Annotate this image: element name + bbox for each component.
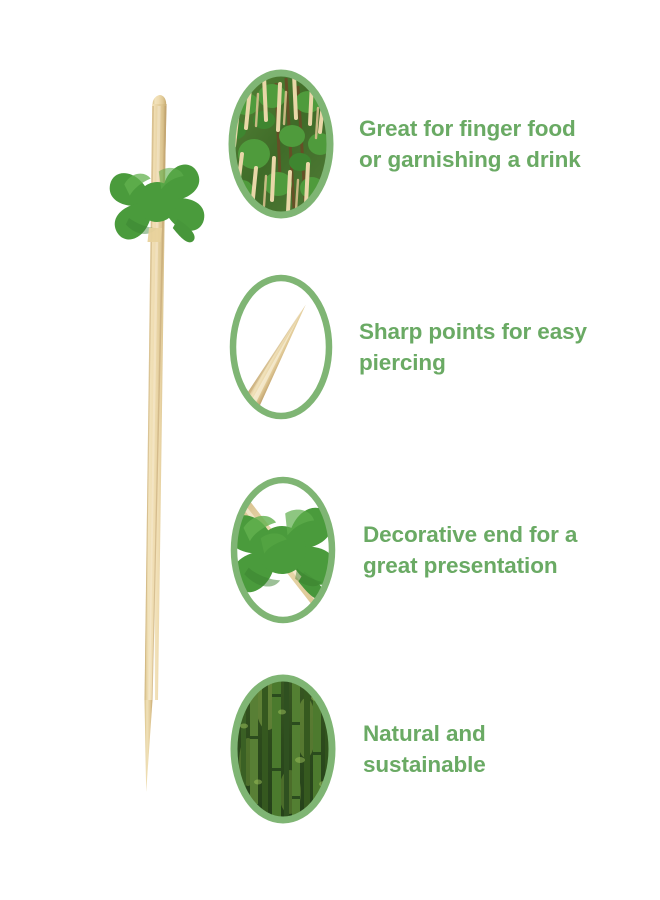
- product-feature-infographic: Great for finger food or garnishing a dr…: [0, 0, 660, 900]
- sharp-bamboo-point-photo: [220, 264, 342, 430]
- feature-label: Decorative end for a great presentation: [363, 519, 577, 581]
- feature-label: Sharp points for easy piercing: [359, 316, 587, 378]
- bamboo-forest-photo: [220, 664, 346, 834]
- feature-item-finger-food: Great for finger food or garnishing a dr…: [220, 58, 581, 230]
- hero-product-image: [0, 0, 215, 900]
- feature-item-natural-sustainable: Natural and sustainable: [220, 664, 486, 834]
- skewer-sharp-tip: [145, 700, 153, 792]
- feature-item-sharp-points: Sharp points for easy piercing: [220, 264, 587, 430]
- bamboo-clover-pick-illustration: [0, 0, 215, 900]
- pile-of-clover-picks-photo: [220, 58, 342, 230]
- feature-label: Great for finger food or garnishing a dr…: [359, 113, 581, 175]
- clover-decorative-end-photo: [220, 466, 346, 634]
- feature-item-decorative-end: Decorative end for a great presentation: [220, 466, 577, 634]
- feature-label: Natural and sustainable: [363, 718, 486, 780]
